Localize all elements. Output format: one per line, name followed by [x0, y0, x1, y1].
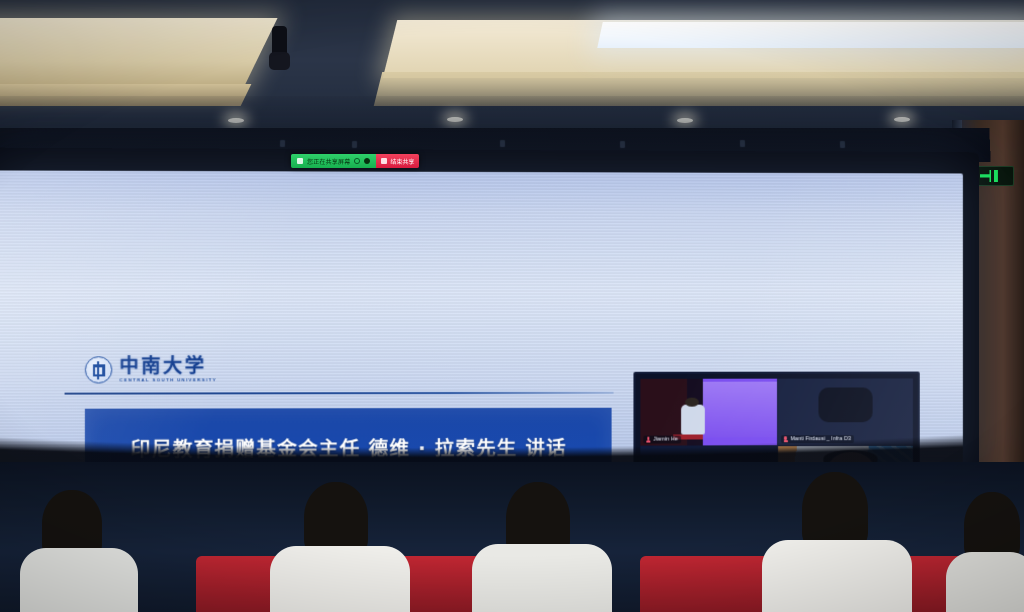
stop-square-icon — [381, 158, 387, 164]
audience-person — [946, 492, 1024, 612]
stop-sharing-label: 结束共享 — [390, 157, 414, 166]
exit-sign — [974, 166, 1014, 186]
exit-running-man-icon — [980, 170, 1008, 182]
sharing-status-button[interactable]: 您正在共享屏幕 — [291, 154, 376, 168]
led-video-wall: 中南大学 CENTRAL SOUTH UNIVERSITY 印尼教育捐赠基金会主… — [0, 170, 963, 473]
more-icon[interactable] — [364, 158, 370, 164]
sharing-status-label: 您正在共享屏幕 — [307, 157, 350, 166]
share-screen-icon — [297, 158, 303, 164]
audience-person — [270, 482, 410, 612]
audience-person — [18, 492, 138, 612]
ceiling-light-strip — [597, 22, 1024, 48]
screen-share-toolbar[interactable]: 您正在共享屏幕 结束共享 — [291, 154, 419, 168]
audience-chair — [640, 556, 770, 612]
ceiling-camera-mount — [272, 26, 287, 66]
stop-sharing-button[interactable]: 结束共享 — [376, 154, 419, 168]
annotate-icon[interactable] — [354, 158, 360, 164]
conference-room-scene: 中南大学 CENTRAL SOUTH UNIVERSITY 印尼教育捐赠基金会主… — [0, 0, 1024, 612]
audience-person — [762, 472, 912, 612]
audience-person — [472, 482, 612, 612]
ceiling-light-panel-left — [0, 18, 278, 90]
